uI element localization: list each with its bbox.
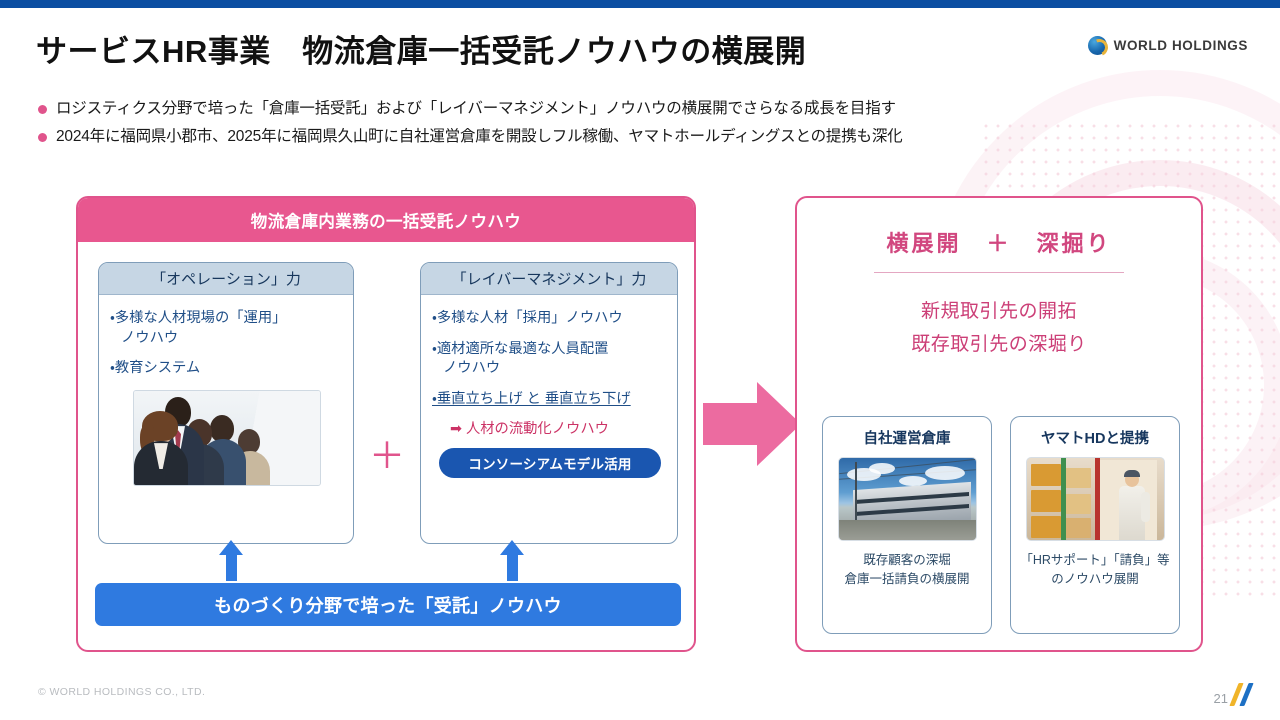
slide-root: サービスHR事業 物流倉庫一括受託ノウハウの横展開 WORLD HOLDINGS… bbox=[0, 0, 1280, 720]
up-arrow-icon bbox=[219, 540, 243, 580]
bullet-text: ロジスティクス分野で培った「倉庫一括受託」および「レイバーマネジメント」ノウハウ… bbox=[56, 98, 896, 120]
footer-copyright: © WORLD HOLDINGS CO., LTD. bbox=[38, 686, 205, 698]
right-panel-line: 新規取引先の開拓 bbox=[797, 295, 1201, 328]
bullet-text: 2024年に福岡県小郡市、2025年に福岡県久山町に自社運営倉庫を開設しフル稼働… bbox=[56, 126, 902, 148]
right-panel-line: 既存取引先の深堀り bbox=[797, 328, 1201, 361]
left-panel: 物流倉庫内業務の一括受託ノウハウ 「オペレーション」力 ・多様な人材現場の「運用… bbox=[76, 196, 696, 652]
left-panel-header: 物流倉庫内業務の一括受託ノウハウ bbox=[78, 198, 694, 242]
right-panel-cards: 自社運営倉庫 既存顧客の深堀 倉庫一括請負の横展開 ヤマトHDと提携 bbox=[822, 416, 1180, 634]
right-arrow-icon bbox=[703, 382, 801, 466]
bullet-item: ロジスティクス分野で培った「倉庫一括受託」および「レイバーマネジメント」ノウハウ… bbox=[38, 98, 1248, 120]
brand-name: WORLD HOLDINGS bbox=[1114, 38, 1248, 53]
card-operation-body: ・多様な人材現場の「運用」 ノウハウ ・教育システム bbox=[99, 295, 353, 494]
brand-logo: WORLD HOLDINGS bbox=[1088, 36, 1248, 55]
bullet-dot-icon bbox=[38, 133, 47, 142]
card-operation-title: 「オペレーション」力 bbox=[151, 268, 301, 289]
right-panel-divider bbox=[874, 272, 1124, 273]
capability-cards: 「オペレーション」力 ・多様な人材現場の「運用」 ノウハウ ・教育システム bbox=[98, 262, 678, 544]
card-operation: 「オペレーション」力 ・多様な人材現場の「運用」 ノウハウ ・教育システム bbox=[98, 262, 354, 544]
page-number: 21 bbox=[1214, 691, 1228, 706]
bullet-dot-icon bbox=[38, 105, 47, 114]
globe-icon bbox=[1088, 36, 1107, 55]
bullet-item: 2024年に福岡県小郡市、2025年に福岡県久山町に自社運営倉庫を開設しフル稼働… bbox=[38, 126, 1248, 148]
plus-icon: ＋ bbox=[354, 262, 420, 474]
right-panel-title: 横展開 ＋ 深掘り bbox=[797, 226, 1201, 258]
monozukuri-bar: ものづくり分野で培った「受託」ノウハウ bbox=[95, 583, 681, 626]
bullet-list: ロジスティクス分野で培った「倉庫一括受託」および「レイバーマネジメント」ノウハウ… bbox=[38, 98, 1248, 155]
consortium-model-button[interactable]: コンソーシアムモデル活用 bbox=[439, 448, 661, 478]
card-labor-management-title: 「レイバーマネジメント」力 bbox=[452, 268, 647, 289]
monozukuri-bar-text: ものづくり分野で培った「受託」ノウハウ bbox=[214, 592, 562, 618]
left-panel-body: 「オペレーション」力 ・多様な人材現場の「運用」 ノウハウ ・教育システム bbox=[78, 242, 694, 650]
left-panel-header-text: 物流倉庫内業務の一括受託ノウハウ bbox=[251, 208, 521, 232]
warehouse-worker-photo bbox=[1026, 457, 1165, 541]
card-own-warehouse-title: 自社運営倉庫 bbox=[829, 427, 985, 448]
right-panel: 横展開 ＋ 深掘り 新規取引先の開拓 既存取引先の深堀り 自社運営倉庫 bbox=[795, 196, 1203, 652]
card-yamato-partnership-caption: 「HRサポート」「請負」等 のノウハウ展開 bbox=[1017, 551, 1173, 590]
warehouse-exterior-photo bbox=[838, 457, 977, 541]
card-labor-management-header: 「レイバーマネジメント」力 bbox=[421, 263, 677, 295]
card-labor-management: 「レイバーマネジメント」力 ・多様な人材「採用」ノウハウ ・適材適所な最適な人員… bbox=[420, 262, 678, 544]
card-labor-item: ・多様な人材「採用」ノウハウ bbox=[432, 309, 668, 329]
page-number-block: 21 bbox=[1214, 682, 1258, 706]
card-labor-subnote: ➡ 人材の流動化ノウハウ bbox=[450, 417, 668, 438]
card-operation-item: ・教育システム bbox=[110, 359, 344, 379]
card-operation-item: ・多様な人材現場の「運用」 ノウハウ bbox=[110, 309, 344, 348]
business-people-photo bbox=[133, 390, 321, 486]
card-yamato-partnership-title: ヤマトHDと提携 bbox=[1017, 427, 1173, 448]
page-title: サービスHR事業 物流倉庫一括受託ノウハウの横展開 bbox=[36, 26, 806, 71]
slash-logo-icon bbox=[1232, 682, 1258, 706]
card-own-warehouse-caption: 既存顧客の深堀 倉庫一括請負の横展開 bbox=[829, 551, 985, 590]
card-labor-item: ・適材適所な最適な人員配置 ノウハウ bbox=[432, 340, 668, 379]
top-accent-strip bbox=[0, 0, 1280, 8]
card-yamato-partnership: ヤマトHDと提携 「HRサポート」「請負」等 のノウハウ展開 bbox=[1010, 416, 1180, 634]
up-arrow-icon bbox=[500, 540, 524, 580]
card-operation-header: 「オペレーション」力 bbox=[99, 263, 353, 295]
card-labor-item: ・垂直立ち上げ と 垂直立ち下げ bbox=[432, 390, 668, 410]
right-panel-lines: 新規取引先の開拓 既存取引先の深堀り bbox=[797, 295, 1201, 362]
card-own-warehouse: 自社運営倉庫 既存顧客の深堀 倉庫一括請負の横展開 bbox=[822, 416, 992, 634]
card-labor-management-body: ・多様な人材「採用」ノウハウ ・適材適所な最適な人員配置 ノウハウ ・垂直立ち上… bbox=[421, 295, 677, 486]
